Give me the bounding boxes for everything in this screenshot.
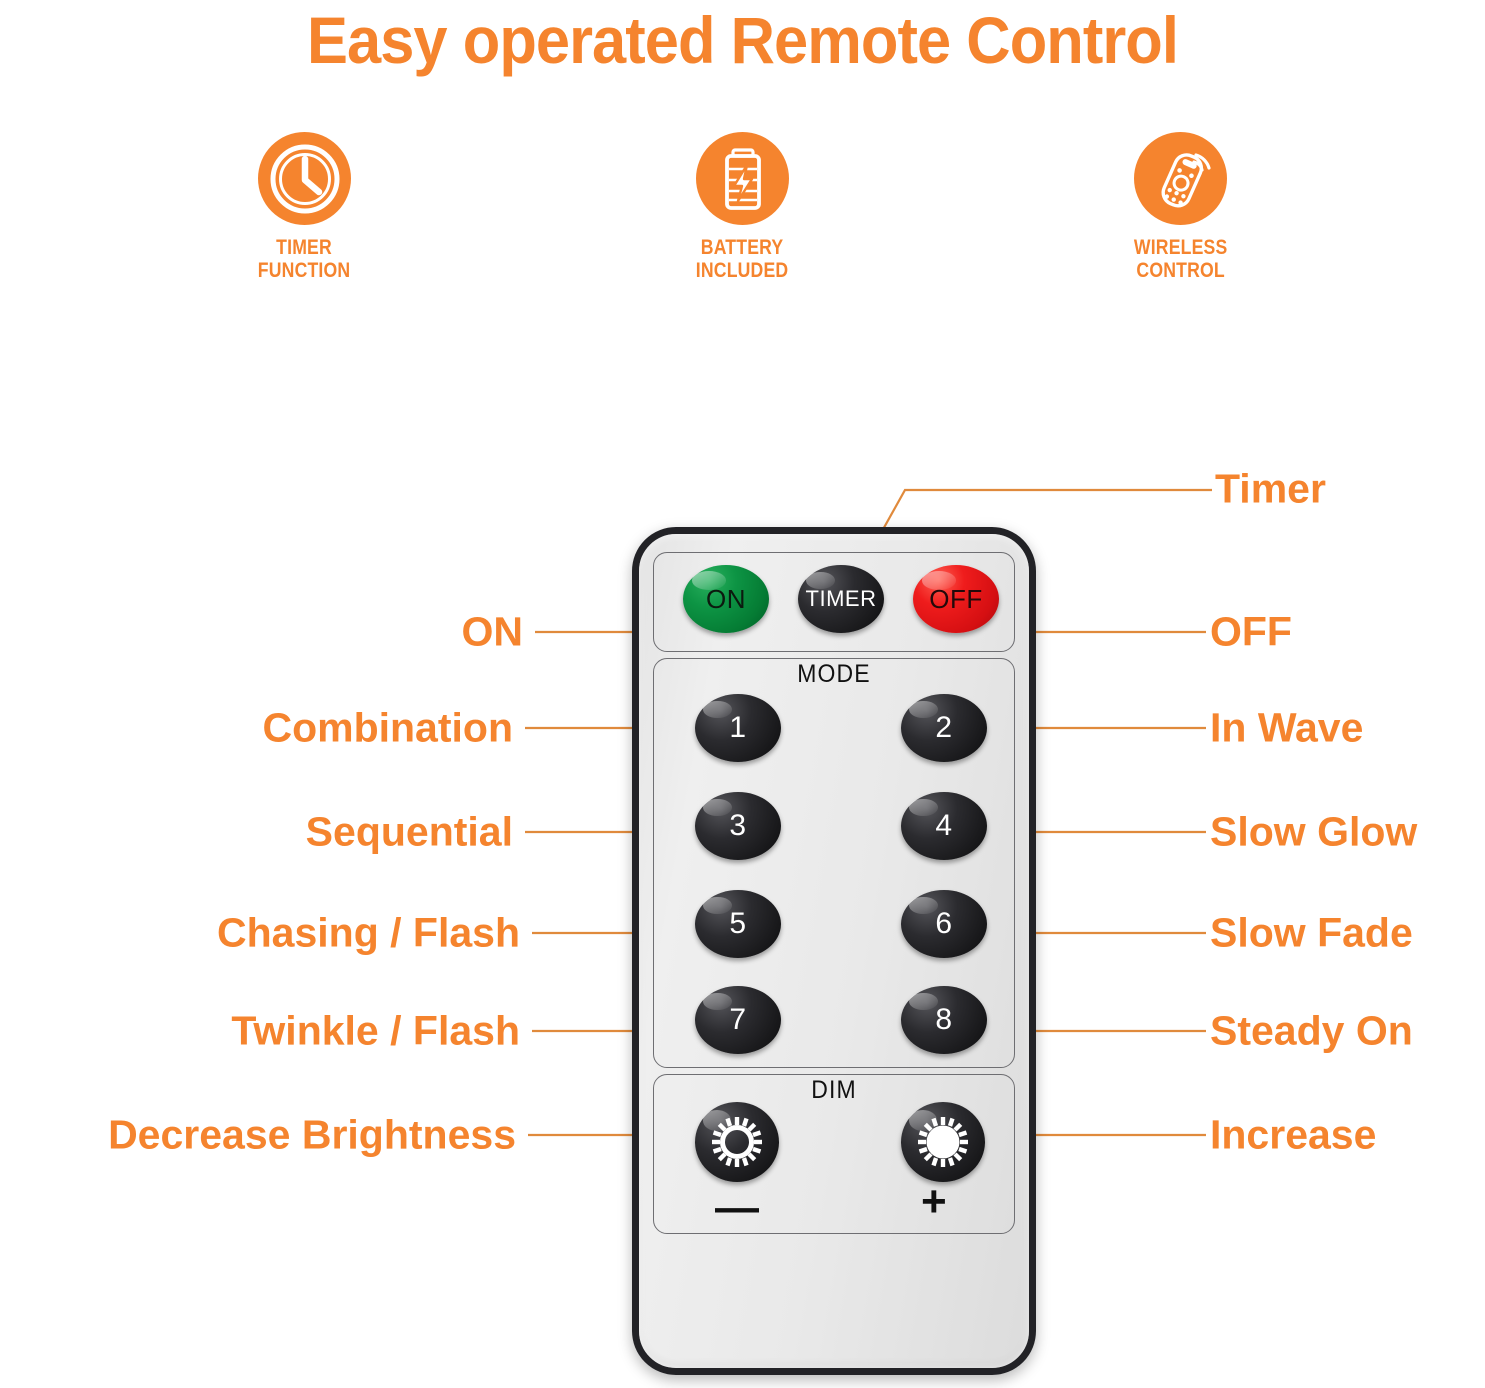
- mode-button-8-label: 8: [935, 1003, 952, 1037]
- mode-button-2-label: 2: [935, 711, 952, 745]
- mode-button-3-label: 3: [729, 809, 746, 843]
- sun-hollow-icon: [710, 1115, 764, 1169]
- decrease-brightness-button[interactable]: [695, 1102, 779, 1182]
- mode-button-4[interactable]: 4: [901, 792, 987, 860]
- mode-button-2[interactable]: 2: [901, 694, 987, 762]
- mode-button-7[interactable]: 7: [695, 986, 781, 1054]
- callout-on: ON: [462, 612, 524, 653]
- callout-decrease-brightness: Decrease Brightness: [108, 1115, 516, 1156]
- feature-timer: TIMER FUNCTION: [205, 132, 405, 282]
- dim-caption: DIM: [655, 1076, 1014, 1105]
- feature-battery: BATTERY INCLUDED: [643, 132, 843, 282]
- remote-signal-icon: [1134, 132, 1227, 225]
- minus-sign: —: [715, 1186, 759, 1230]
- timer-button[interactable]: TIMER: [798, 565, 884, 633]
- mode-button-5[interactable]: 5: [695, 890, 781, 958]
- callout-in-wave: In Wave: [1210, 708, 1363, 749]
- feature-wireless: WIRELESS CONTROL: [1081, 132, 1281, 282]
- mode-button-4-label: 4: [935, 809, 952, 843]
- mode-button-6-label: 6: [935, 907, 952, 941]
- mode-button-3[interactable]: 3: [695, 792, 781, 860]
- sun-filled-icon: [916, 1115, 970, 1169]
- mode-button-1[interactable]: 1: [695, 694, 781, 762]
- callout-slow-fade: Slow Fade: [1210, 913, 1413, 954]
- callout-sequential: Sequential: [306, 812, 513, 853]
- callout-twinkle-flash: Twinkle / Flash: [231, 1011, 520, 1052]
- mode-caption: MODE: [655, 660, 1014, 689]
- page-title: Easy operated Remote Control: [52, 2, 1433, 78]
- mode-button-8[interactable]: 8: [901, 986, 987, 1054]
- callout-off: OFF: [1210, 612, 1292, 653]
- clock-icon: [258, 132, 351, 225]
- mode-button-1-label: 1: [729, 711, 746, 745]
- feature-badges: TIMER FUNCTION BATTERY INCLUDED: [0, 132, 1485, 282]
- timer-button-label: TIMER: [806, 586, 877, 612]
- remote-control-device: MODE DIM ON TIMER OFF 1 2 3 4 5 6 7 8: [632, 527, 1036, 1375]
- on-button[interactable]: ON: [683, 565, 769, 633]
- mode-button-6[interactable]: 6: [901, 890, 987, 958]
- callout-timer: Timer: [1215, 469, 1326, 510]
- callout-increase: Increase: [1210, 1115, 1376, 1156]
- mode-button-7-label: 7: [729, 1003, 746, 1037]
- feature-battery-label: BATTERY INCLUDED: [696, 237, 788, 282]
- mode-button-5-label: 5: [729, 907, 746, 941]
- battery-icon: [696, 132, 789, 225]
- callout-slow-glow: Slow Glow: [1210, 812, 1417, 853]
- off-button-label: OFF: [929, 584, 983, 615]
- plus-sign: +: [921, 1180, 947, 1224]
- feature-timer-label: TIMER FUNCTION: [258, 237, 350, 282]
- callout-steady-on: Steady On: [1210, 1011, 1413, 1052]
- callout-combination: Combination: [262, 708, 513, 749]
- off-button[interactable]: OFF: [913, 565, 999, 633]
- callout-chasing-flash: Chasing / Flash: [217, 913, 520, 954]
- on-button-label: ON: [706, 584, 746, 615]
- increase-brightness-button[interactable]: [901, 1102, 985, 1182]
- feature-wireless-label: WIRELESS CONTROL: [1134, 237, 1227, 282]
